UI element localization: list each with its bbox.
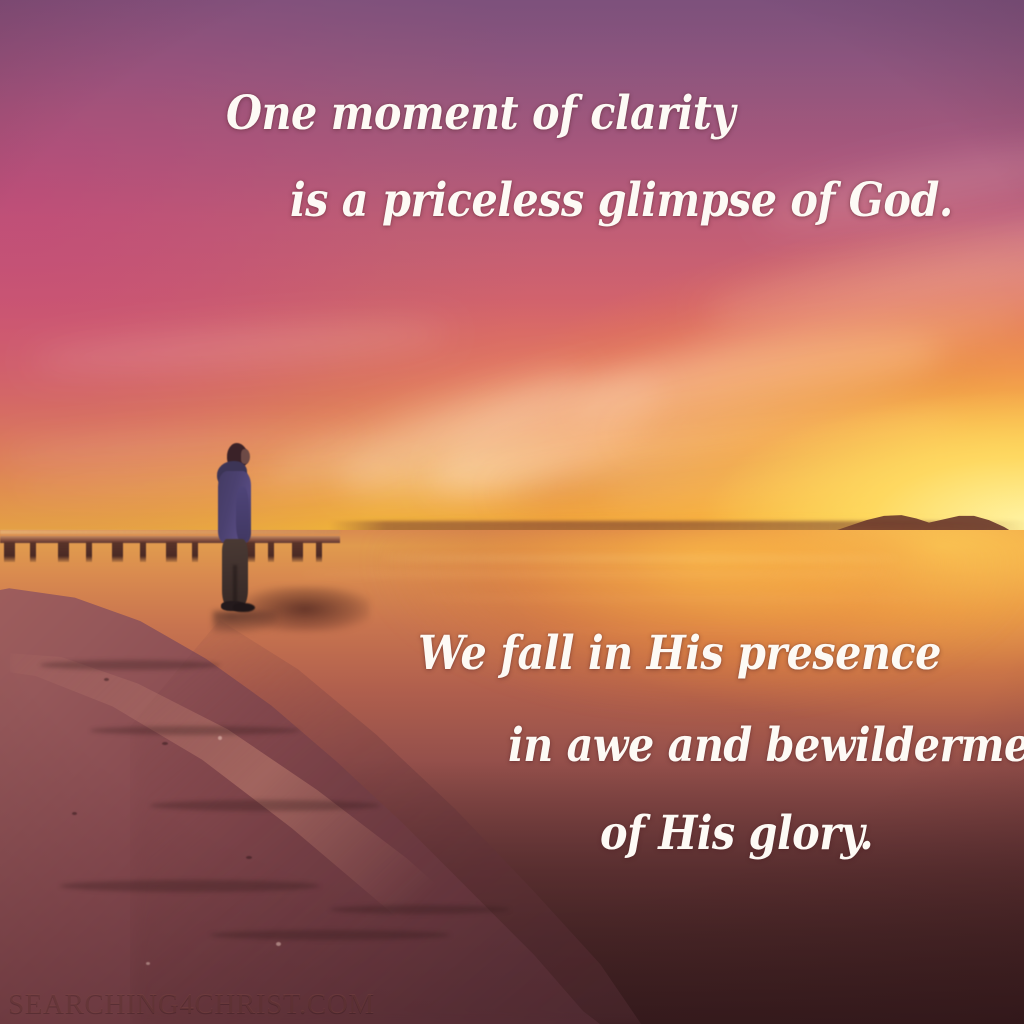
sand-ripple [60, 880, 320, 892]
sand-speckle [72, 812, 77, 815]
pier-piling [86, 542, 92, 562]
quote-top-line-1: One moment of clarity [226, 86, 735, 141]
quote-bottom-line-1: We fall in His presence [418, 626, 941, 681]
sand-speckle [218, 736, 222, 740]
person-leg-gap [233, 565, 237, 603]
sand-ripple [40, 660, 220, 670]
site-watermark: SEARCHING4CHRIST.COM [8, 988, 375, 1021]
person-reflection [213, 611, 277, 633]
pier-piling [4, 542, 15, 562]
pier-piling [30, 542, 36, 562]
quote-image-canvas: One moment of clarity is a priceless gli… [0, 0, 1024, 1024]
pier-piling [140, 542, 146, 562]
quote-bottom-line-3: of His glory. [600, 806, 873, 861]
pier-piling [292, 542, 303, 562]
water-streak [420, 596, 960, 601]
sand-ripple [90, 726, 300, 735]
man-standing-on-shore [205, 443, 269, 619]
sand-ripple [210, 930, 450, 940]
pier-piling [316, 542, 322, 562]
sand-speckle [162, 742, 168, 745]
person-arm [236, 487, 249, 541]
pier-piling [58, 542, 69, 562]
sand-speckle [276, 942, 281, 946]
sand-ripple [150, 800, 380, 811]
pier-railing [0, 530, 340, 534]
sand-ripple [330, 905, 510, 914]
person-shoe [233, 603, 255, 612]
water-streak [380, 556, 900, 561]
sand-speckle [146, 962, 150, 965]
sand-speckle [246, 856, 252, 859]
pier-piling [192, 542, 198, 562]
person-face [241, 449, 250, 464]
pier-piling [166, 542, 177, 562]
water-streak [300, 572, 900, 577]
quote-bottom-line-2: in awe and bewilderment [508, 718, 1024, 773]
quote-top-line-2: is a priceless glimpse of God. [290, 173, 953, 228]
sand-speckle [104, 678, 109, 681]
pier-piling [112, 542, 123, 562]
